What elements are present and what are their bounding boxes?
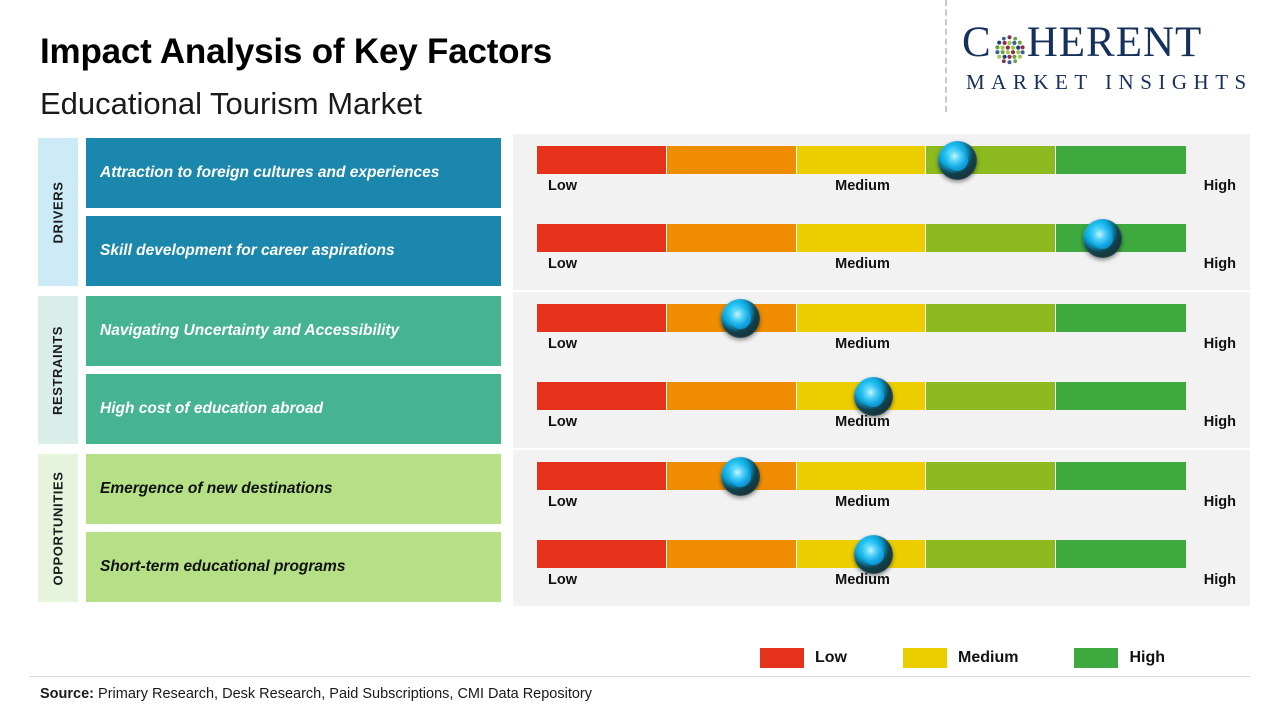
legend-item-high: High: [1074, 648, 1165, 668]
impact-matrix: DRIVERSAttraction to foreign cultures an…: [0, 138, 1280, 610]
gauge-segment-5: [1056, 146, 1186, 174]
factor-row: Attraction to foreign cultures and exper…: [86, 138, 1250, 208]
globe-icon: [993, 28, 1026, 61]
header-divider: [945, 0, 947, 112]
group-tab-label: DRIVERS: [51, 181, 66, 243]
source-text: Primary Research, Desk Research, Paid Su…: [94, 686, 592, 702]
scale-tick-medium: Medium: [513, 572, 1250, 588]
gauge-segment-5: [1056, 304, 1186, 332]
factor-group-opportunities: OPPORTUNITIESEmergence of new destinatio…: [38, 454, 1250, 602]
impact-marker[interactable]: [854, 535, 893, 574]
scale-tick-medium: Medium: [513, 494, 1250, 510]
gauge-segment-2: [667, 540, 797, 568]
gauge-segment-1: [537, 540, 667, 568]
company-logo: C: [962, 18, 1262, 104]
gauge-segment-4: [926, 382, 1056, 410]
gauge-segment-4: [926, 224, 1056, 252]
footer-divider: [30, 676, 1250, 677]
scale-tick-medium: Medium: [513, 336, 1250, 352]
legend-label: High: [1129, 649, 1165, 667]
gauge-panel: LowMediumHigh: [513, 212, 1250, 290]
legend-label: Medium: [958, 649, 1018, 667]
factor-group-restraints: RESTRAINTSNavigating Uncertainty and Acc…: [38, 296, 1250, 444]
scale-tick-high: High: [1204, 494, 1236, 510]
infographic-page: Impact Analysis of Key Factors Education…: [0, 0, 1280, 720]
gauge-scale: LowMediumHigh: [513, 336, 1250, 362]
legend-swatch-high: [1074, 648, 1118, 668]
legend-label: Low: [815, 649, 847, 667]
factor-row: High cost of education abroadLowMediumHi…: [86, 374, 1250, 444]
gauge-segment-1: [537, 382, 667, 410]
factor-label: Emergence of new destinations: [86, 454, 501, 524]
factor-label: Skill development for career aspirations: [86, 216, 501, 286]
gauge-scale: LowMediumHigh: [513, 494, 1250, 520]
scale-tick-medium: Medium: [513, 178, 1250, 194]
logo-wordmark: C: [962, 18, 1202, 67]
legend-item-low: Low: [760, 648, 847, 668]
gauge-panel: LowMediumHigh: [513, 370, 1250, 448]
gauge-panel: LowMediumHigh: [513, 450, 1250, 528]
gauge-segment-2: [667, 382, 797, 410]
logo-letters-herent: HERENT: [1027, 18, 1203, 67]
group-tab-label: RESTRAINTS: [51, 325, 66, 414]
group-tab-opportunities: OPPORTUNITIES: [38, 454, 78, 602]
gauge-segment-1: [537, 462, 667, 490]
gauge-panel: LowMediumHigh: [513, 528, 1250, 606]
impact-marker[interactable]: [854, 377, 893, 416]
gauge-segment-3: [797, 146, 927, 174]
page-subtitle: Educational Tourism Market: [40, 86, 422, 122]
gauge-segment-5: [1056, 540, 1186, 568]
factor-label: Navigating Uncertainty and Accessibility: [86, 296, 501, 366]
gauge-scale: LowMediumHigh: [513, 256, 1250, 282]
gauge-segment-2: [667, 146, 797, 174]
gauge-scale: LowMediumHigh: [513, 572, 1250, 598]
logo-letter-c: C: [962, 18, 992, 67]
gauge-scale: LowMediumHigh: [513, 414, 1250, 440]
impact-marker[interactable]: [721, 457, 760, 496]
factor-row: Short-term educational programsLowMedium…: [86, 532, 1250, 602]
factor-row: Navigating Uncertainty and Accessibility…: [86, 296, 1250, 366]
impact-gauge-bar[interactable]: [537, 304, 1186, 332]
impact-marker[interactable]: [721, 299, 760, 338]
gauge-segment-4: [926, 462, 1056, 490]
gauge-segment-3: [797, 304, 927, 332]
impact-gauge-bar[interactable]: [537, 146, 1186, 174]
legend-swatch-low: [760, 648, 804, 668]
scale-tick-high: High: [1204, 414, 1236, 430]
scale-tick-high: High: [1204, 336, 1236, 352]
scale-tick-medium: Medium: [513, 414, 1250, 430]
impact-marker[interactable]: [938, 141, 977, 180]
scale-tick-high: High: [1204, 178, 1236, 194]
gauge-segment-5: [1056, 382, 1186, 410]
page-title: Impact Analysis of Key Factors: [40, 32, 552, 72]
gauge-segment-5: [1056, 462, 1186, 490]
factor-row: Emergence of new destinationsLowMediumHi…: [86, 454, 1250, 524]
gauge-segment-3: [797, 224, 927, 252]
gauge-segment-4: [926, 540, 1056, 568]
group-tab-restraints: RESTRAINTS: [38, 296, 78, 444]
factor-label: Short-term educational programs: [86, 532, 501, 602]
gauge-segment-1: [537, 224, 667, 252]
factor-label: Attraction to foreign cultures and exper…: [86, 138, 501, 208]
scale-tick-high: High: [1204, 572, 1236, 588]
factor-row: Skill development for career aspirations…: [86, 216, 1250, 286]
factor-group-drivers: DRIVERSAttraction to foreign cultures an…: [38, 138, 1250, 286]
factor-label: High cost of education abroad: [86, 374, 501, 444]
gauge-segment-3: [797, 462, 927, 490]
source-label: Source:: [40, 686, 94, 702]
group-tab-label: OPPORTUNITIES: [51, 471, 66, 585]
logo-tagline: MARKET INSIGHTS: [966, 70, 1253, 95]
gauge-panel: LowMediumHigh: [513, 134, 1250, 212]
gauge-segment-1: [537, 146, 667, 174]
impact-marker[interactable]: [1083, 219, 1122, 258]
gauge-segment-4: [926, 304, 1056, 332]
scale-tick-medium: Medium: [513, 256, 1250, 272]
gauge-segment-1: [537, 304, 667, 332]
impact-gauge-bar[interactable]: [537, 462, 1186, 490]
legend: LowMediumHigh: [760, 643, 1220, 673]
gauge-scale: LowMediumHigh: [513, 178, 1250, 204]
header: Impact Analysis of Key Factors Education…: [0, 0, 1280, 130]
legend-swatch-medium: [903, 648, 947, 668]
gauge-segment-2: [667, 224, 797, 252]
legend-item-medium: Medium: [903, 648, 1018, 668]
gauge-panel: LowMediumHigh: [513, 292, 1250, 370]
scale-tick-high: High: [1204, 256, 1236, 272]
group-tab-drivers: DRIVERS: [38, 138, 78, 286]
source-note: Source: Primary Research, Desk Research,…: [40, 686, 592, 702]
